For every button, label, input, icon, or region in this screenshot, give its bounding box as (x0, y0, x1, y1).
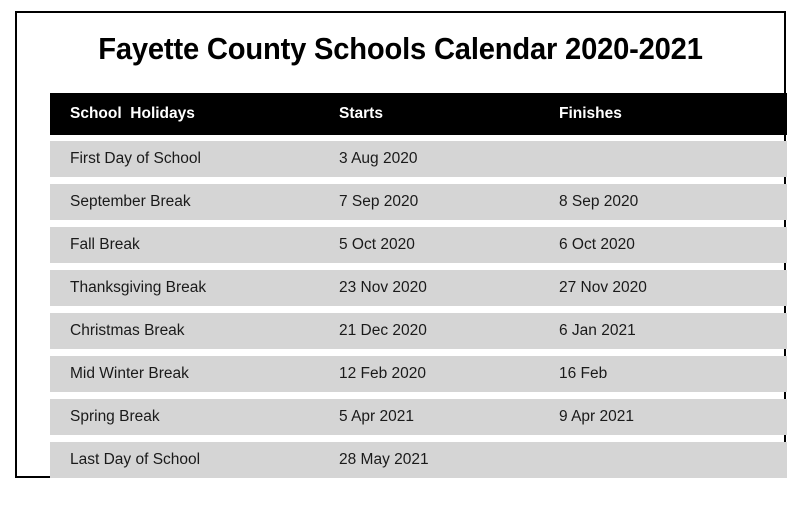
cell-finishes: 6 Oct 2020 (559, 227, 779, 263)
content-frame: Fayette County Schools Calendar 2020-202… (15, 11, 786, 478)
table-row: September Break 7 Sep 2020 8 Sep 2020 (50, 184, 787, 220)
cell-finishes (559, 442, 779, 478)
cell-holiday-name: September Break (70, 184, 335, 220)
cell-starts: 21 Dec 2020 (339, 313, 554, 349)
table-row: Last Day of School 28 May 2021 (50, 442, 787, 478)
table-row: Spring Break 5 Apr 2021 9 Apr 2021 (50, 399, 787, 435)
column-header-starts: Starts (339, 93, 554, 135)
school-holidays-table: School Holidays Starts Finishes First Da… (50, 93, 787, 485)
calendar-page: Fayette County Schools Calendar 2020-202… (0, 0, 800, 506)
table-row: First Day of School 3 Aug 2020 (50, 141, 787, 177)
table-header-row: School Holidays Starts Finishes (50, 93, 787, 135)
page-title: Fayette County Schools Calendar 2020-202… (40, 31, 761, 67)
cell-finishes: 9 Apr 2021 (559, 399, 779, 435)
table-row: Christmas Break 21 Dec 2020 6 Jan 2021 (50, 313, 787, 349)
cell-starts: 5 Oct 2020 (339, 227, 554, 263)
cell-finishes: 6 Jan 2021 (559, 313, 779, 349)
cell-finishes: 27 Nov 2020 (559, 270, 779, 306)
cell-holiday-name: Last Day of School (70, 442, 335, 478)
cell-finishes (559, 141, 779, 177)
cell-starts: 12 Feb 2020 (339, 356, 554, 392)
cell-finishes: 8 Sep 2020 (559, 184, 779, 220)
cell-starts: 23 Nov 2020 (339, 270, 554, 306)
cell-holiday-name: Spring Break (70, 399, 335, 435)
cell-holiday-name: Fall Break (70, 227, 335, 263)
column-header-finishes: Finishes (559, 93, 779, 135)
cell-starts: 5 Apr 2021 (339, 399, 554, 435)
cell-finishes: 16 Feb (559, 356, 779, 392)
table-row: Thanksgiving Break 23 Nov 2020 27 Nov 20… (50, 270, 787, 306)
cell-starts: 3 Aug 2020 (339, 141, 554, 177)
cell-starts: 7 Sep 2020 (339, 184, 554, 220)
cell-holiday-name: First Day of School (70, 141, 335, 177)
cell-holiday-name: Christmas Break (70, 313, 335, 349)
cell-holiday-name: Thanksgiving Break (70, 270, 335, 306)
cell-starts: 28 May 2021 (339, 442, 554, 478)
table-row: Fall Break 5 Oct 2020 6 Oct 2020 (50, 227, 787, 263)
column-header-school-holidays: School Holidays (70, 93, 335, 135)
cell-holiday-name: Mid Winter Break (70, 356, 335, 392)
table-row: Mid Winter Break 12 Feb 2020 16 Feb (50, 356, 787, 392)
